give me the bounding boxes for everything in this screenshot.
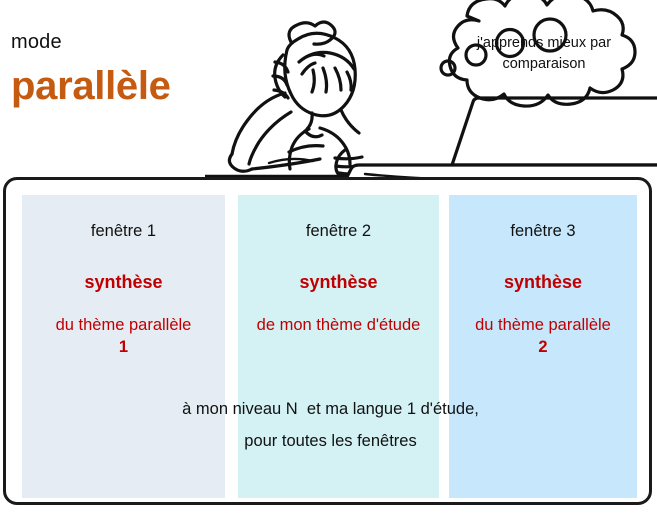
- column-1-header: fenêtre 1: [22, 222, 225, 242]
- person-studying-at-laptop-illustration: [205, 0, 657, 178]
- column-1-synthese-label: synthèse: [22, 272, 225, 294]
- thought-bubble-text: j'apprends mieux par comparaison: [474, 33, 614, 75]
- column-3-description: du thème parallèle 2: [449, 315, 637, 358]
- column-2-header: fenêtre 2: [238, 222, 439, 242]
- column-1-description-number: 1: [24, 337, 223, 358]
- column-1-description-text: du thème parallèle: [56, 316, 192, 334]
- column-2-synthese-label: synthèse: [238, 272, 439, 294]
- page-title: parallèle: [11, 65, 221, 107]
- window-column-1: fenêtre 1 synthèse du thème parallèle 1: [22, 195, 225, 498]
- column-3-description-text: du thème parallèle: [475, 316, 611, 334]
- window-column-3: fenêtre 3 synthèse du thème parallèle 2: [449, 195, 637, 498]
- column-2-description: de mon thème d'étude: [238, 315, 439, 336]
- window-column-2: fenêtre 2 synthèse de mon thème d'étude: [238, 195, 439, 498]
- column-3-header: fenêtre 3: [449, 222, 637, 242]
- column-3-synthese-label: synthèse: [449, 272, 637, 294]
- column-2-description-text: de mon thème d'étude: [257, 316, 421, 334]
- column-1-description: du thème parallèle 1: [22, 315, 225, 358]
- header-banner: mode parallèle: [0, 0, 657, 175]
- page-title-small: mode: [11, 32, 221, 52]
- parallel-mode-panel: fenêtre 1 synthèse du thème parallèle 1 …: [3, 177, 652, 505]
- column-3-description-number: 2: [451, 337, 635, 358]
- window-columns: fenêtre 1 synthèse du thème parallèle 1 …: [6, 180, 649, 502]
- title-block: mode parallèle: [11, 32, 221, 107]
